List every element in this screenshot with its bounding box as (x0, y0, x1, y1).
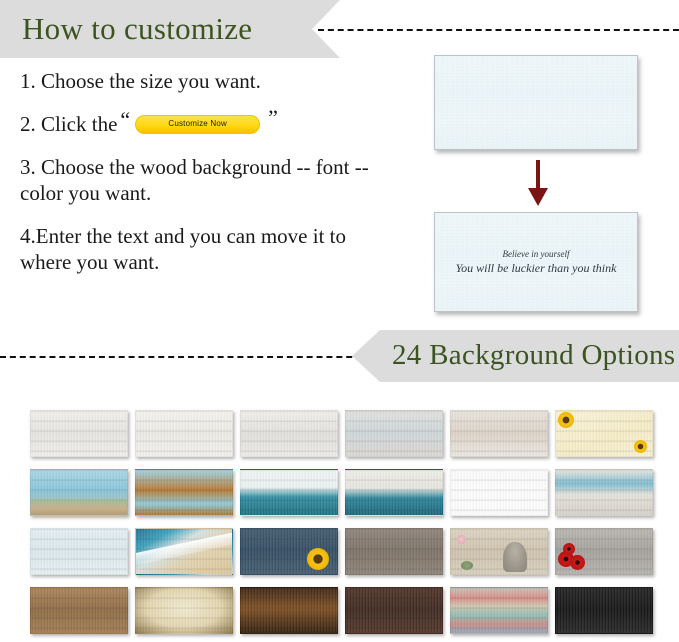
wood-grain (31, 411, 127, 456)
background-thumb-teal-ocean-planks[interactable] (345, 469, 443, 516)
wood-grain (241, 470, 337, 515)
customize-now-button[interactable]: Customize Now (135, 115, 260, 134)
page-title: How to customize (22, 13, 252, 44)
wood-grain (136, 470, 232, 515)
buddha-statue-icon (503, 542, 527, 572)
background-thumb-antique-parchment[interactable] (135, 587, 233, 634)
background-options-banner: 24 Background Options (352, 330, 679, 382)
pink-flower-icon (457, 535, 466, 544)
wood-grain (556, 470, 652, 515)
background-thumb-beach-waves-sand[interactable] (135, 528, 233, 575)
background-thumb-distressed-white-wood[interactable] (240, 410, 338, 457)
wood-grain (136, 588, 232, 633)
how-to-customize-banner: How to customize (0, 0, 340, 58)
dashed-connector-bottom (0, 356, 372, 358)
background-thumb-teal-sea-foam[interactable] (240, 469, 338, 516)
down-arrow-icon (528, 160, 548, 206)
zen-stone-icon (461, 561, 473, 570)
sign-quote-line-2: You will be luckier than you think (456, 260, 617, 276)
background-thumb-black-chalkboard-wood[interactable] (555, 587, 653, 634)
background-thumb-dark-walnut-planks[interactable] (345, 587, 443, 634)
wood-grain (451, 588, 547, 633)
sunflower-icon (558, 412, 574, 428)
quote-close: ” (265, 107, 281, 129)
background-options-grid (30, 410, 654, 634)
wood-grain (346, 411, 442, 456)
wood-grain (31, 588, 127, 633)
background-thumb-blue-gray-brick-planks[interactable] (345, 410, 443, 457)
step-2-prefix: 2. Click the (20, 111, 117, 137)
background-thumb-buddha-zen-scene[interactable] (450, 528, 548, 575)
background-thumb-brown-rustic-wood[interactable] (30, 587, 128, 634)
background-thumb-light-whitewash-wood[interactable] (135, 410, 233, 457)
background-thumb-cream-sunflower[interactable] (555, 410, 653, 457)
wood-grain (346, 588, 442, 633)
background-thumb-golden-sunset-seascape[interactable] (450, 469, 548, 516)
instruction-steps: 1. Choose the size you want. 2. Click th… (20, 68, 392, 292)
quote-open: “ (117, 109, 133, 131)
wood-grain (241, 411, 337, 456)
blank-wood-sign-preview (434, 55, 638, 150)
red-poppy-icon (570, 555, 585, 570)
background-thumb-gray-brown-wood[interactable] (345, 528, 443, 575)
background-thumb-dark-brown-textured-wood[interactable] (240, 587, 338, 634)
background-thumb-coral-reef-underwater[interactable] (30, 469, 128, 516)
background-thumb-gray-wood-red-poppies[interactable] (555, 528, 653, 575)
background-thumb-dark-blue-wood-sunflower[interactable] (240, 528, 338, 575)
wood-grain (451, 470, 547, 515)
sunflower-icon (307, 548, 329, 570)
background-thumb-weathered-brown-white[interactable] (450, 410, 548, 457)
step-2: 2. Click the “ Customize Now ” (20, 111, 392, 137)
wood-grain (556, 588, 652, 633)
coral-bed (31, 499, 127, 515)
wood-grain (346, 470, 442, 515)
step-4: 4.Enter the text and you can move it to … (20, 223, 392, 275)
dashed-connector-top (318, 29, 679, 31)
quote-wood-sign-preview: Believe in yourself You will be luckier … (434, 212, 638, 312)
wood-grain (31, 529, 127, 574)
step-3: 3. Choose the wood background -- font --… (20, 154, 392, 206)
wood-grain (346, 529, 442, 574)
background-thumb-pale-blue-wood[interactable] (30, 528, 128, 575)
red-poppy-icon (563, 543, 575, 555)
wood-grain (136, 411, 232, 456)
background-thumb-teal-white-weathered[interactable] (555, 469, 653, 516)
background-options-title: 24 Background Options (392, 341, 675, 370)
background-thumb-colorful-pastel-stripes[interactable] (450, 587, 548, 634)
sunflower-icon (634, 440, 647, 453)
page-root: How to customize 1. Choose the size you … (0, 0, 679, 642)
wood-grain (451, 411, 547, 456)
step-1: 1. Choose the size you want. (20, 68, 392, 94)
background-thumb-white-wood-planks[interactable] (30, 410, 128, 457)
background-thumb-teal-orange-distressed[interactable] (135, 469, 233, 516)
wood-grain (241, 588, 337, 633)
sign-quote-line-1: Believe in yourself (503, 248, 570, 260)
